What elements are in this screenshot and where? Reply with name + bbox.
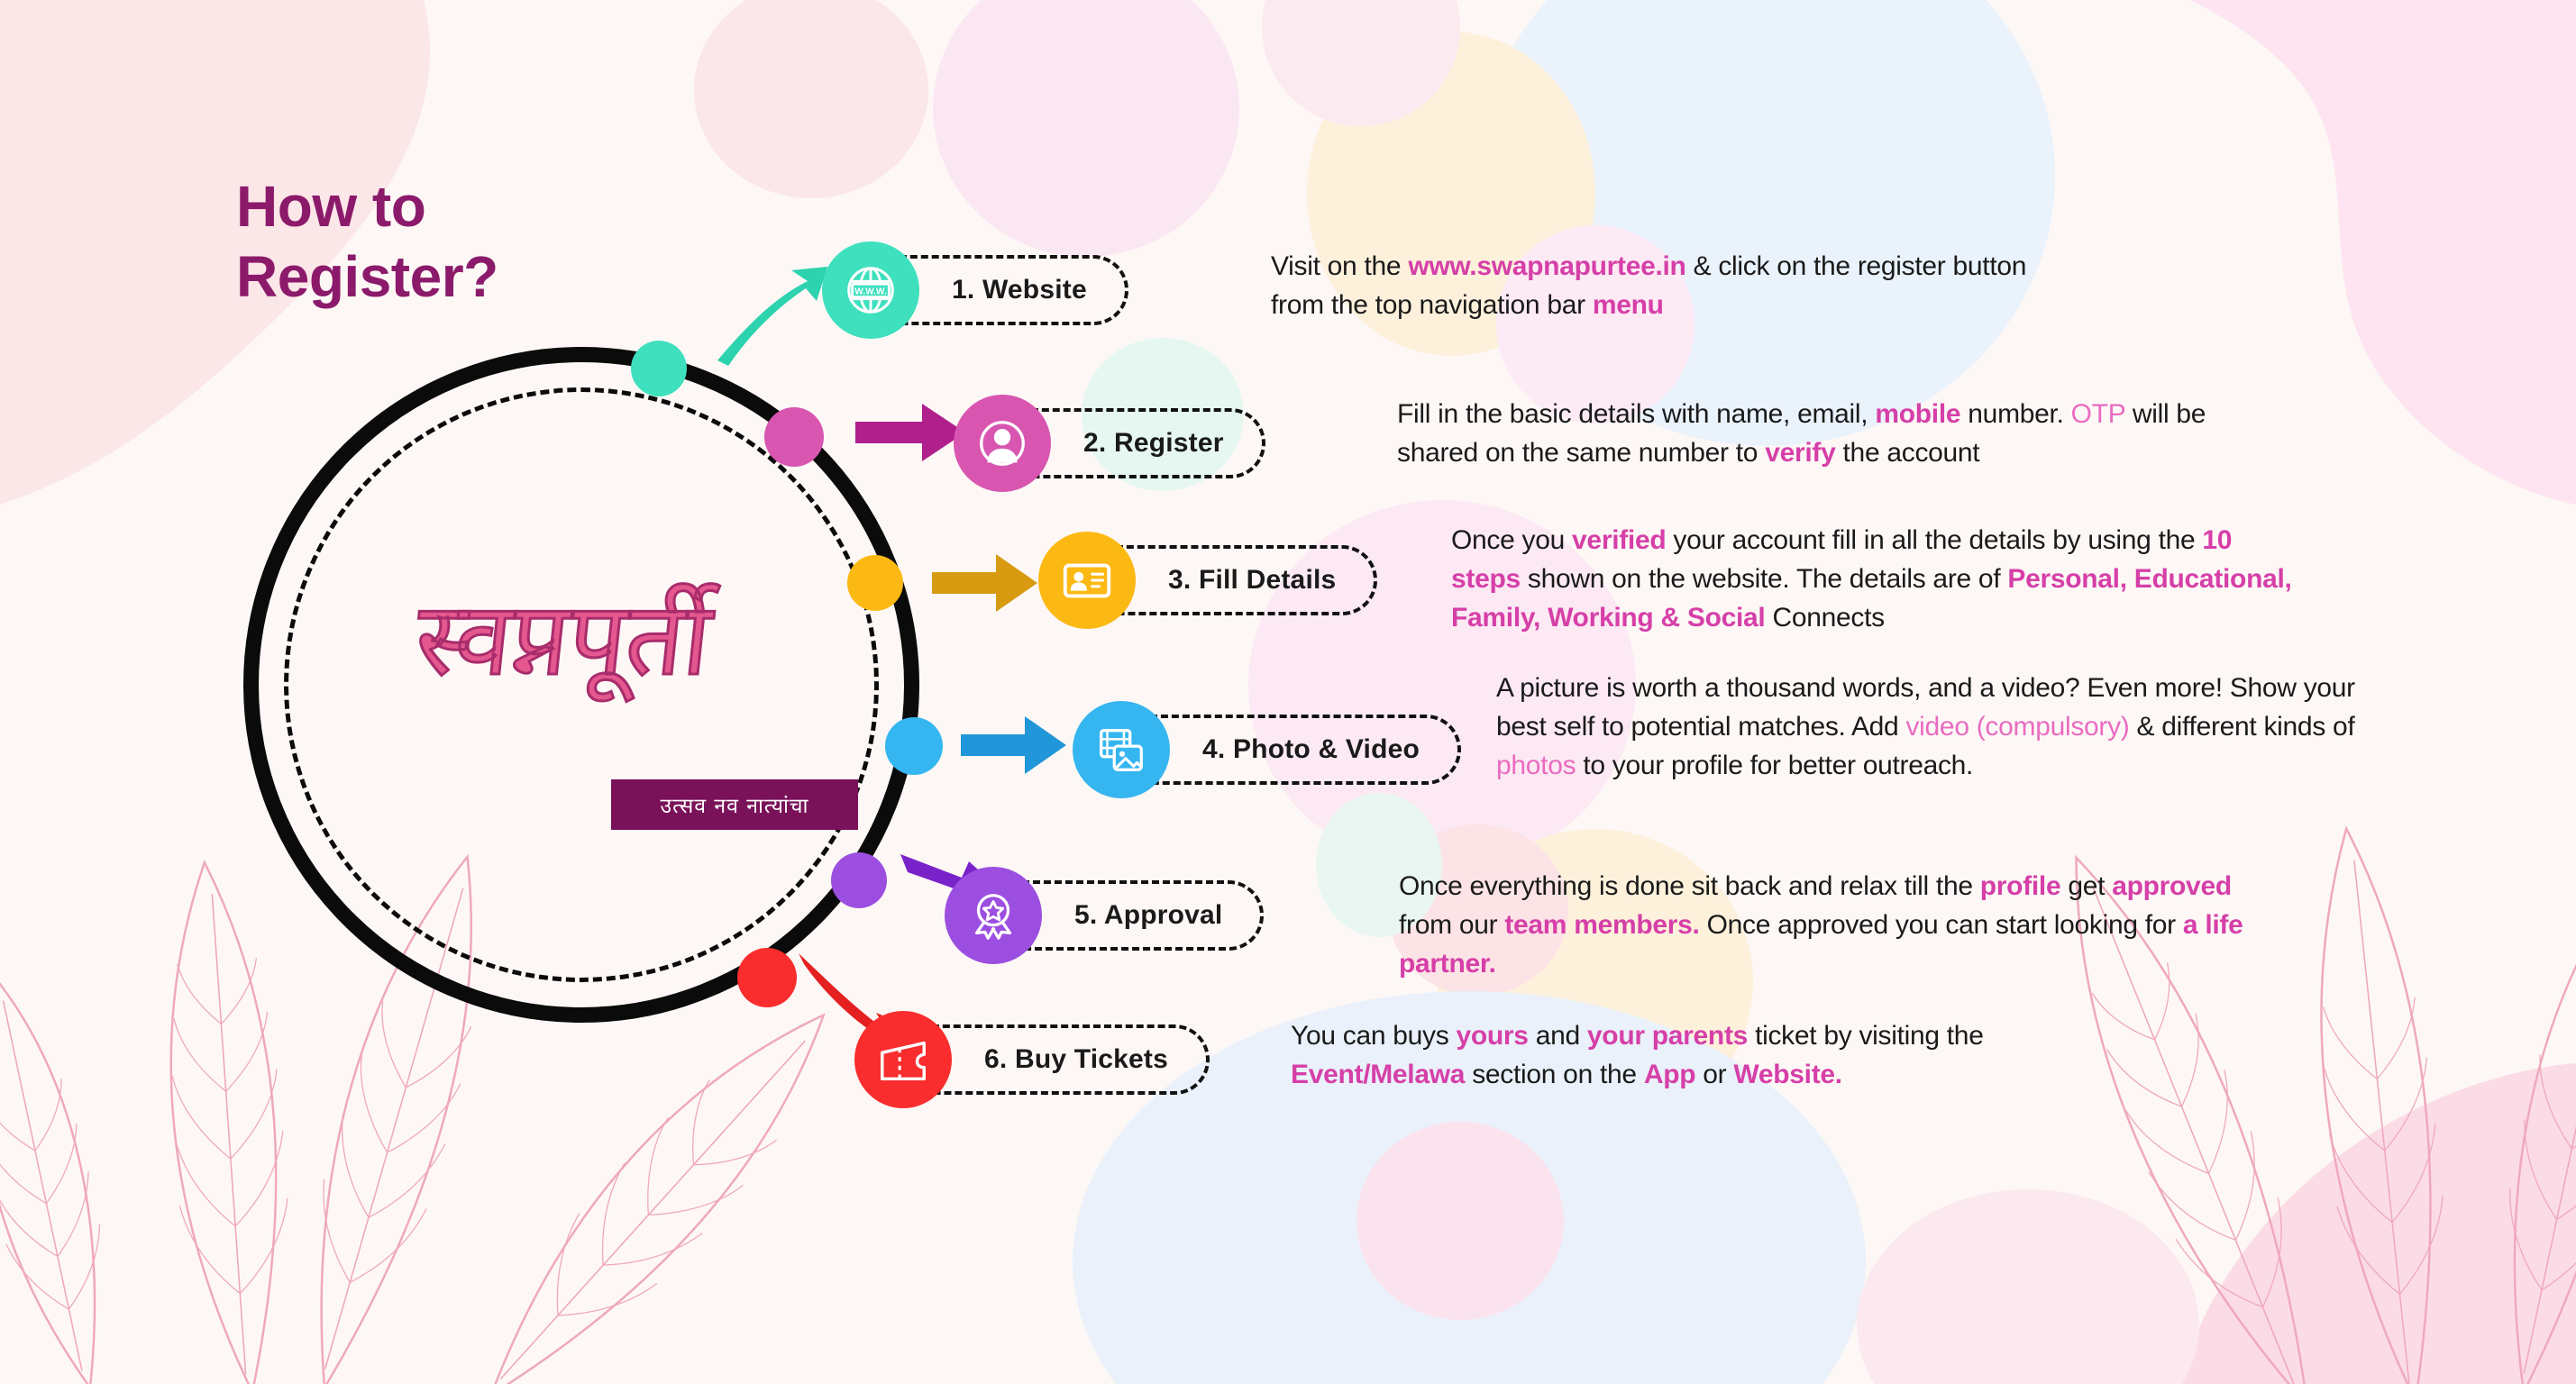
arrow-step-4 <box>957 710 1070 780</box>
step-6-label-box: 6. Buy Tickets <box>921 1024 1210 1095</box>
desc-fragment: the account <box>1835 438 1979 468</box>
step-3[interactable]: 3. Fill Details <box>1038 532 1377 629</box>
desc-fragment: your parents <box>1587 1021 1748 1051</box>
desc-fragment: Website. <box>1733 1060 1841 1089</box>
ring-dot-step-3 <box>847 555 903 611</box>
step-6-icon-circle[interactable] <box>854 1011 952 1108</box>
arrow-step-2 <box>852 396 969 469</box>
award-badge-icon <box>965 888 1021 943</box>
step-5-icon-circle[interactable] <box>945 867 1042 964</box>
arrow-step-1 <box>712 261 829 369</box>
logo-tagline-bar: उत्सव नव नात्यांचा <box>611 779 858 830</box>
ring-dot-step-1 <box>631 341 687 396</box>
user-profile-icon <box>974 415 1030 471</box>
desc-fragment: shown on the website. The details are of <box>1521 564 2008 594</box>
logo-tagline-text: उत्सव नव नात्यांचा <box>661 790 809 819</box>
step-2-description: Fill in the basic details with name, ema… <box>1397 395 2280 472</box>
desc-fragment: your account fill in all the details by … <box>1666 525 2202 555</box>
arrow-step-3 <box>928 548 1041 618</box>
ring-dot-step-5 <box>831 852 887 908</box>
desc-fragment: team members. <box>1504 910 1699 940</box>
step-5-label: 5. Approval <box>1074 900 1222 931</box>
step-1-label-box: 1. Website <box>889 255 1128 325</box>
desc-fragment: video (compulsory) <box>1905 712 2129 742</box>
desc-fragment: to your profile for better outreach. <box>1576 751 1973 780</box>
step-1[interactable]: W.W.W. 1. Website <box>822 241 1128 339</box>
desc-fragment: and <box>1529 1021 1587 1051</box>
desc-fragment: photos <box>1496 751 1576 780</box>
desc-fragment: verified <box>1572 525 1666 555</box>
step-5-description: Once everything is done sit back and rel… <box>1399 867 2264 984</box>
globe-www-icon: W.W.W. <box>843 262 899 318</box>
desc-fragment: yours <box>1456 1021 1528 1051</box>
film-photo-icon <box>1093 722 1149 778</box>
step-4-description: A picture is worth a thousand words, and… <box>1496 669 2361 786</box>
desc-fragment: Once everything is done sit back and rel… <box>1399 871 1980 901</box>
ticket-icon <box>875 1032 931 1088</box>
step-2-icon-circle[interactable] <box>954 395 1051 492</box>
desc-fragment: menu <box>1593 290 1664 320</box>
step-5-label-box: 5. Approval <box>1011 880 1264 951</box>
desc-fragment: number. <box>1960 399 2070 429</box>
desc-fragment: section on the <box>1465 1060 1644 1089</box>
logo-wordmark: स्वप्नपूर्ती <box>313 527 814 752</box>
step-1-label: 1. Website <box>952 275 1087 305</box>
decor-circle-pink-6 <box>1357 1122 1564 1320</box>
desc-fragment: Event/Melawa <box>1291 1060 1465 1089</box>
step-4-label-box: 4. Photo & Video <box>1139 715 1461 785</box>
page-title: How to Register? <box>236 171 498 312</box>
desc-fragment: www.swapnapurtee.in <box>1408 251 1685 281</box>
desc-fragment: App <box>1644 1060 1695 1089</box>
step-1-icon-circle[interactable]: W.W.W. <box>822 241 919 339</box>
step-3-label-box: 3. Fill Details <box>1105 545 1377 615</box>
step-2-label: 2. Register <box>1083 428 1224 459</box>
step-4-label: 4. Photo & Video <box>1202 734 1420 765</box>
step-3-icon-circle[interactable] <box>1038 532 1136 629</box>
ring-dot-step-2 <box>764 407 824 467</box>
desc-fragment: from our <box>1399 910 1504 940</box>
desc-fragment: or <box>1695 1060 1733 1089</box>
step-4[interactable]: 4. Photo & Video <box>1073 701 1461 798</box>
desc-fragment: ticket by visiting the <box>1748 1021 1984 1051</box>
desc-fragment: OTP <box>2071 399 2125 429</box>
desc-fragment: mobile <box>1875 399 1960 429</box>
step-2[interactable]: 2. Register <box>954 395 1265 492</box>
svg-text:W.W.W.: W.W.W. <box>854 287 887 296</box>
step-1-description: Visit on the www.swapnapurtee.in & click… <box>1271 247 2082 324</box>
step-6-description: You can buys yours and your parents tick… <box>1291 1016 2156 1094</box>
step-6-label: 6. Buy Tickets <box>984 1044 1168 1075</box>
ring-dot-step-4 <box>885 717 943 775</box>
step-4-icon-circle[interactable] <box>1073 701 1170 798</box>
infographic-canvas: How to Register? स्वप्नपूर्ती उत्सव नव न… <box>0 0 2576 1384</box>
desc-fragment: verify <box>1765 438 1835 468</box>
step-2-label-box: 2. Register <box>1020 408 1265 478</box>
desc-fragment: You can buys <box>1291 1021 1456 1051</box>
desc-fragment: profile <box>1980 871 2061 901</box>
desc-fragment: Once approved you can start looking for <box>1700 910 2183 940</box>
step-3-label: 3. Fill Details <box>1168 565 1336 596</box>
step-6[interactable]: 6. Buy Tickets <box>854 1011 1210 1108</box>
ring-dot-step-6 <box>737 948 797 1007</box>
id-card-icon <box>1059 552 1115 608</box>
desc-fragment: Fill in the basic details with name, ema… <box>1397 399 1875 429</box>
desc-fragment: Visit on the <box>1271 251 1408 281</box>
desc-fragment: get <box>2060 871 2112 901</box>
desc-fragment: Once you <box>1451 525 1572 555</box>
desc-fragment: approved <box>2112 871 2232 901</box>
desc-fragment: & different kinds of <box>2130 712 2355 742</box>
step-5[interactable]: 5. Approval <box>945 867 1264 964</box>
desc-fragment: Connects <box>1765 603 1884 633</box>
brand-logo: स्वप्नपूर्ती उत्सव नव नात्यांचा <box>324 527 838 851</box>
step-3-description: Once you verified your account fill in a… <box>1451 521 2307 638</box>
